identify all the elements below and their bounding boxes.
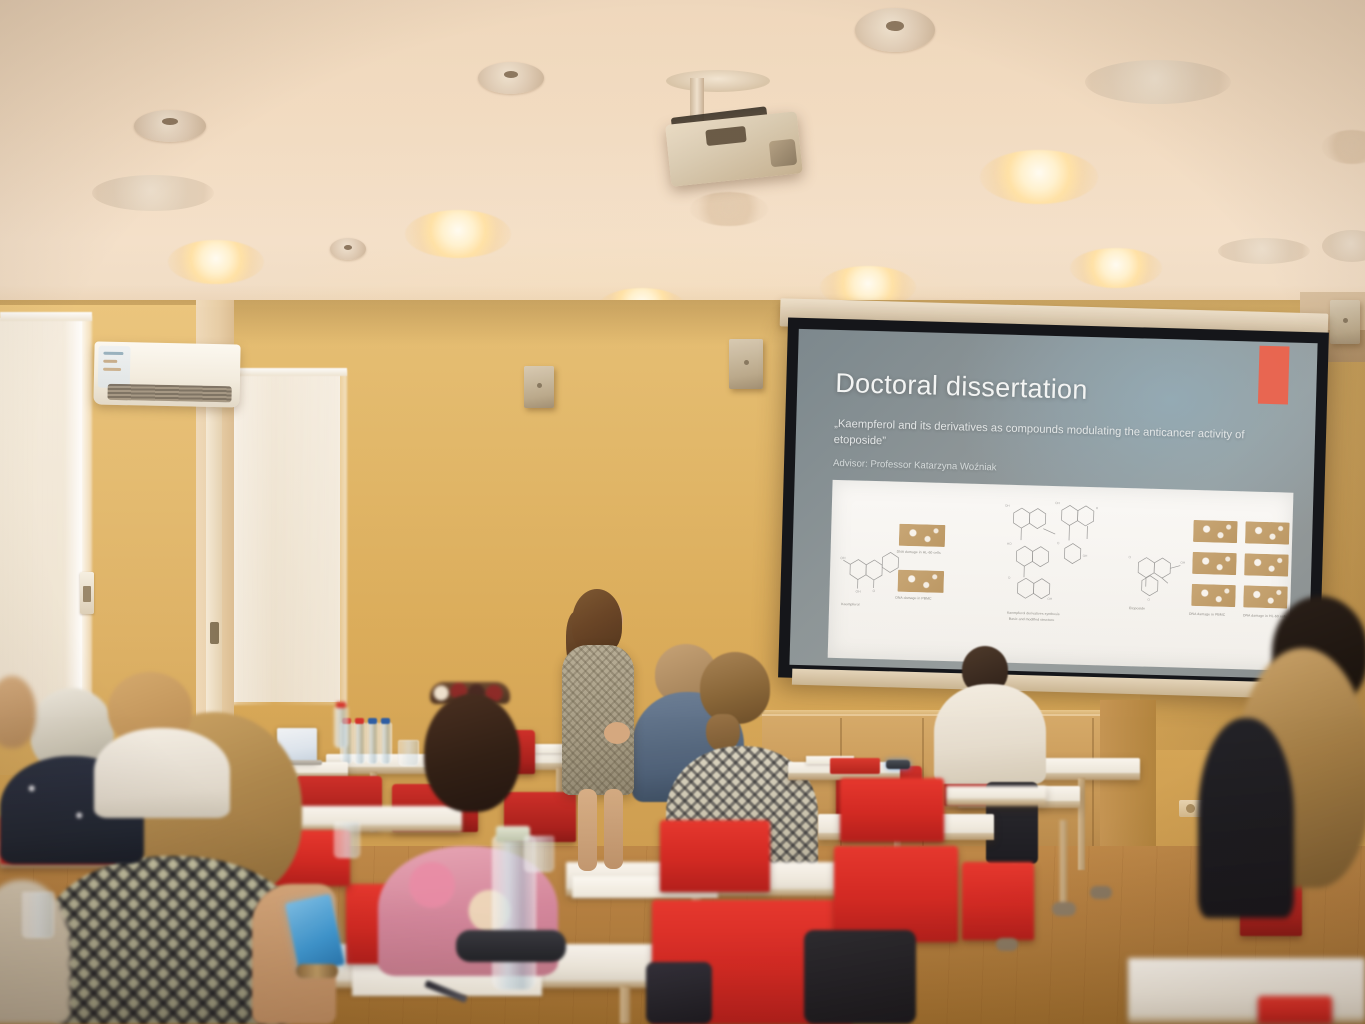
water-bottle[interactable] xyxy=(334,706,348,748)
svg-text:O: O xyxy=(1008,576,1011,580)
ceiling-diffuser xyxy=(92,175,214,211)
drinking-glass[interactable] xyxy=(524,836,554,872)
presenter-leg xyxy=(578,789,597,871)
figure-caption: Basic and modified structure xyxy=(1009,617,1055,622)
microscopy-tile xyxy=(1245,521,1290,544)
svg-text:OH: OH xyxy=(840,556,846,560)
chair[interactable] xyxy=(834,846,958,942)
figure-caption: DNA damage in PBMC xyxy=(1189,612,1225,617)
svg-text:HO: HO xyxy=(1007,542,1012,546)
figure-caption: Etoposide xyxy=(1129,606,1145,610)
blind-top-edge xyxy=(0,312,92,321)
molecule-structure-etoposide: OOHO xyxy=(1125,546,1189,604)
smoke-detector xyxy=(855,8,935,52)
bag[interactable] xyxy=(646,962,712,1024)
ceiling-diffuser xyxy=(1085,60,1231,104)
drinking-glass[interactable] xyxy=(22,892,54,938)
bracelet xyxy=(296,964,338,978)
window-daylight-glow xyxy=(225,370,347,705)
chair[interactable] xyxy=(660,820,770,892)
ac-display-panel xyxy=(98,346,131,389)
chair[interactable] xyxy=(840,778,944,842)
svg-text:OH: OH xyxy=(1083,554,1089,558)
slide-surface: Doctoral dissertation „Kaempferol and it… xyxy=(789,329,1317,679)
slide-figure-panel: OHOHO Kaempferol DNA damage in HL-60 cel… xyxy=(828,480,1294,671)
slide-subtitle: „Kaempferol and its derivatives as compo… xyxy=(833,416,1287,461)
drinking-glass[interactable] xyxy=(334,822,360,858)
projection-screen: Doctoral dissertation „Kaempferol and it… xyxy=(778,318,1329,693)
microscopy-tile xyxy=(898,570,945,593)
microscopy-tile xyxy=(1193,520,1238,543)
microscopy-tile xyxy=(1244,553,1289,576)
water-bottle[interactable] xyxy=(353,722,366,764)
person-torso xyxy=(934,684,1046,784)
person-head xyxy=(424,694,520,812)
svg-text:OH: OH xyxy=(1055,501,1061,505)
wall-speaker xyxy=(524,366,554,408)
projector-lens xyxy=(769,139,798,168)
eyeglasses-case[interactable] xyxy=(456,930,566,962)
microscopy-tile xyxy=(1243,585,1288,608)
slide-accent-bar xyxy=(1258,346,1290,405)
chair[interactable] xyxy=(1258,996,1332,1024)
ceiling-diffuser xyxy=(1218,238,1310,264)
chair[interactable] xyxy=(962,862,1034,940)
person-torso xyxy=(94,728,230,818)
svg-text:O: O xyxy=(1057,541,1060,545)
red-folder[interactable] xyxy=(830,758,880,774)
wall-speaker xyxy=(1330,300,1360,344)
blind-top-edge xyxy=(225,368,347,376)
person-torso xyxy=(1198,718,1294,918)
door-frame xyxy=(206,400,222,730)
conference-room-photo: Doctoral dissertation „Kaempferol and it… xyxy=(0,0,1365,1024)
smoke-detector xyxy=(134,110,206,142)
ceiling-downlight xyxy=(168,240,264,284)
window-daylight-glow xyxy=(0,316,92,721)
microscopy-tile xyxy=(1191,584,1236,607)
caster-wheel xyxy=(996,938,1018,951)
svg-text:O: O xyxy=(1129,555,1132,559)
ceiling-downlight xyxy=(980,150,1098,204)
figure-caption: DNA damage in HL-60 cells xyxy=(897,550,941,555)
presenter-dress xyxy=(562,645,634,795)
door-handle[interactable] xyxy=(210,622,219,644)
ceiling-downlight xyxy=(690,192,768,226)
svg-text:O: O xyxy=(1147,598,1150,602)
table xyxy=(276,806,462,832)
table-leg xyxy=(1060,820,1067,912)
svg-text:OH: OH xyxy=(1047,597,1053,601)
smoke-detector xyxy=(330,238,366,260)
table xyxy=(946,786,1046,806)
svg-text:OH: OH xyxy=(1180,561,1186,565)
figure-caption: Kaempferol xyxy=(841,602,859,607)
air-conditioner-unit xyxy=(93,341,240,407)
ceiling-downlight xyxy=(1070,248,1162,288)
microscopy-tile xyxy=(1192,552,1237,575)
bag[interactable] xyxy=(804,930,916,1024)
table-leg xyxy=(620,986,630,1024)
projector-ceiling-plate xyxy=(666,70,770,92)
smoke-detector xyxy=(478,62,544,94)
microscopy-tile xyxy=(899,524,946,547)
water-bottle[interactable] xyxy=(366,722,379,764)
figure-caption: DNA damage in PBMC xyxy=(895,596,931,601)
caster-wheel xyxy=(1090,886,1112,899)
svg-text:O: O xyxy=(872,589,875,593)
presenter-leg xyxy=(604,789,623,869)
drinking-glass[interactable] xyxy=(398,740,419,766)
ac-air-vent xyxy=(107,384,231,403)
presenter-hands xyxy=(604,722,630,744)
water-bottle[interactable] xyxy=(379,722,392,764)
figure-caption: Kaempferol derivatives synthesis xyxy=(1007,611,1060,616)
light-switch[interactable] xyxy=(80,572,94,614)
ceiling-downlight xyxy=(405,210,511,258)
wall-speaker xyxy=(729,339,763,389)
presentation-remote[interactable] xyxy=(886,760,910,769)
molecule-structure-derivatives: OHOHR HOOOH OOH xyxy=(997,495,1110,616)
person-head xyxy=(700,652,770,724)
caster-wheel xyxy=(1052,902,1076,916)
slide-title: Doctoral dissertation xyxy=(835,368,1088,406)
svg-text:R: R xyxy=(1096,506,1099,510)
svg-text:OH: OH xyxy=(1005,504,1011,508)
slide-advisor-line: Advisor: Professor Katarzyna Woźniak xyxy=(833,458,997,474)
svg-text:OH: OH xyxy=(855,590,861,594)
molecule-structure-kaempferol: OHOHO xyxy=(839,542,901,602)
